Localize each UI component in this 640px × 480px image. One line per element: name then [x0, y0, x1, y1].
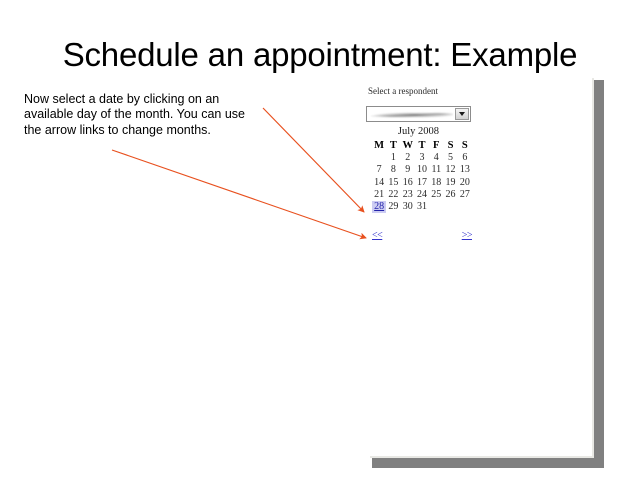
calendar-day-cell — [458, 201, 472, 213]
arrow-to-day-grid — [263, 108, 364, 212]
calendar-grid: M T W T F S S 1 2 3 4 5 6 — [372, 140, 472, 213]
calendar-day-cell[interactable]: 20 — [458, 177, 472, 189]
calendar-day-cell[interactable]: 3 — [415, 152, 429, 164]
calendar-day-cell[interactable]: 7 — [372, 164, 386, 176]
calendar-day-cell[interactable]: 4 — [429, 152, 443, 164]
calendar-day-cell[interactable]: 12 — [443, 164, 457, 176]
calendar-day-cell-selected[interactable]: 28 — [372, 201, 386, 213]
day-header-wed: W — [401, 140, 415, 152]
calendar-week-row: 28 29 30 31 — [372, 201, 472, 213]
arrow-to-month-nav — [112, 150, 366, 238]
calendar-header-row: M T W T F S S — [372, 140, 472, 152]
calendar-day-cell[interactable]: 15 — [386, 177, 400, 189]
page-title: Schedule an appointment: Example — [0, 36, 640, 74]
screenshot-shadow-right — [594, 80, 604, 468]
calendar-day-cell[interactable]: 5 — [443, 152, 457, 164]
calendar-week-row: 7 8 9 10 11 12 13 — [372, 164, 472, 176]
embedded-browser-screenshot: Select a respondent July 2008 M T W T F … — [366, 78, 592, 456]
calendar-day-cell[interactable]: 21 — [372, 189, 386, 201]
calendar-day-cell[interactable]: 17 — [415, 177, 429, 189]
slide-canvas: Schedule an appointment: Example Now sel… — [0, 0, 640, 480]
calendar-day-cell[interactable]: 24 — [415, 189, 429, 201]
instruction-text: Now select a date by clicking on an avai… — [24, 92, 262, 138]
calendar-day-cell[interactable]: 14 — [372, 177, 386, 189]
calendar-day-cell[interactable]: 25 — [429, 189, 443, 201]
calendar-month-title: July 2008 — [366, 126, 471, 137]
day-header-mon: M — [372, 140, 386, 152]
calendar-week-row: 1 2 3 4 5 6 — [372, 152, 472, 164]
calendar-day-cell[interactable]: 30 — [401, 201, 415, 213]
day-header-fri: F — [429, 140, 443, 152]
calendar-day-cell[interactable]: 13 — [458, 164, 472, 176]
calendar-week-row: 14 15 16 17 18 19 20 — [372, 177, 472, 189]
calendar-week-row: 21 22 23 24 25 26 27 — [372, 189, 472, 201]
calendar-day-cell — [443, 201, 457, 213]
calendar-day-cell[interactable]: 18 — [429, 177, 443, 189]
calendar-day-cell[interactable]: 19 — [443, 177, 457, 189]
calendar-day-cell[interactable]: 22 — [386, 189, 400, 201]
chevron-down-glyph — [459, 112, 465, 116]
day-header-tue: T — [386, 140, 400, 152]
calendar-day-cell[interactable]: 27 — [458, 189, 472, 201]
day-header-thu: T — [415, 140, 429, 152]
calendar-day-cell[interactable]: 9 — [401, 164, 415, 176]
calendar-day-cell[interactable]: 6 — [458, 152, 472, 164]
respondent-label: Select a respondent — [368, 86, 438, 96]
prev-month-link[interactable]: << — [372, 230, 382, 241]
respondent-select[interactable] — [366, 106, 471, 122]
day-header-sun: S — [458, 140, 472, 152]
calendar-day-cell[interactable]: 16 — [401, 177, 415, 189]
calendar-day-cell — [429, 201, 443, 213]
screenshot-shadow-bottom — [372, 458, 604, 468]
calendar-day-cell[interactable]: 2 — [401, 152, 415, 164]
respondent-selected-value — [371, 111, 453, 119]
calendar-day-cell[interactable]: 8 — [386, 164, 400, 176]
calendar-month-nav: << >> — [372, 230, 472, 241]
calendar-day-cell[interactable]: 31 — [415, 201, 429, 213]
calendar-day-cell[interactable]: 26 — [443, 189, 457, 201]
day-header-sat: S — [443, 140, 457, 152]
calendar-day-cell[interactable]: 29 — [386, 201, 400, 213]
calendar-day-cell — [372, 152, 386, 164]
calendar-day-cell[interactable]: 10 — [415, 164, 429, 176]
calendar-day-cell[interactable]: 23 — [401, 189, 415, 201]
chevron-down-icon[interactable] — [455, 108, 469, 120]
next-month-link[interactable]: >> — [462, 230, 472, 241]
calendar-day-cell[interactable]: 1 — [386, 152, 400, 164]
calendar-day-cell[interactable]: 11 — [429, 164, 443, 176]
